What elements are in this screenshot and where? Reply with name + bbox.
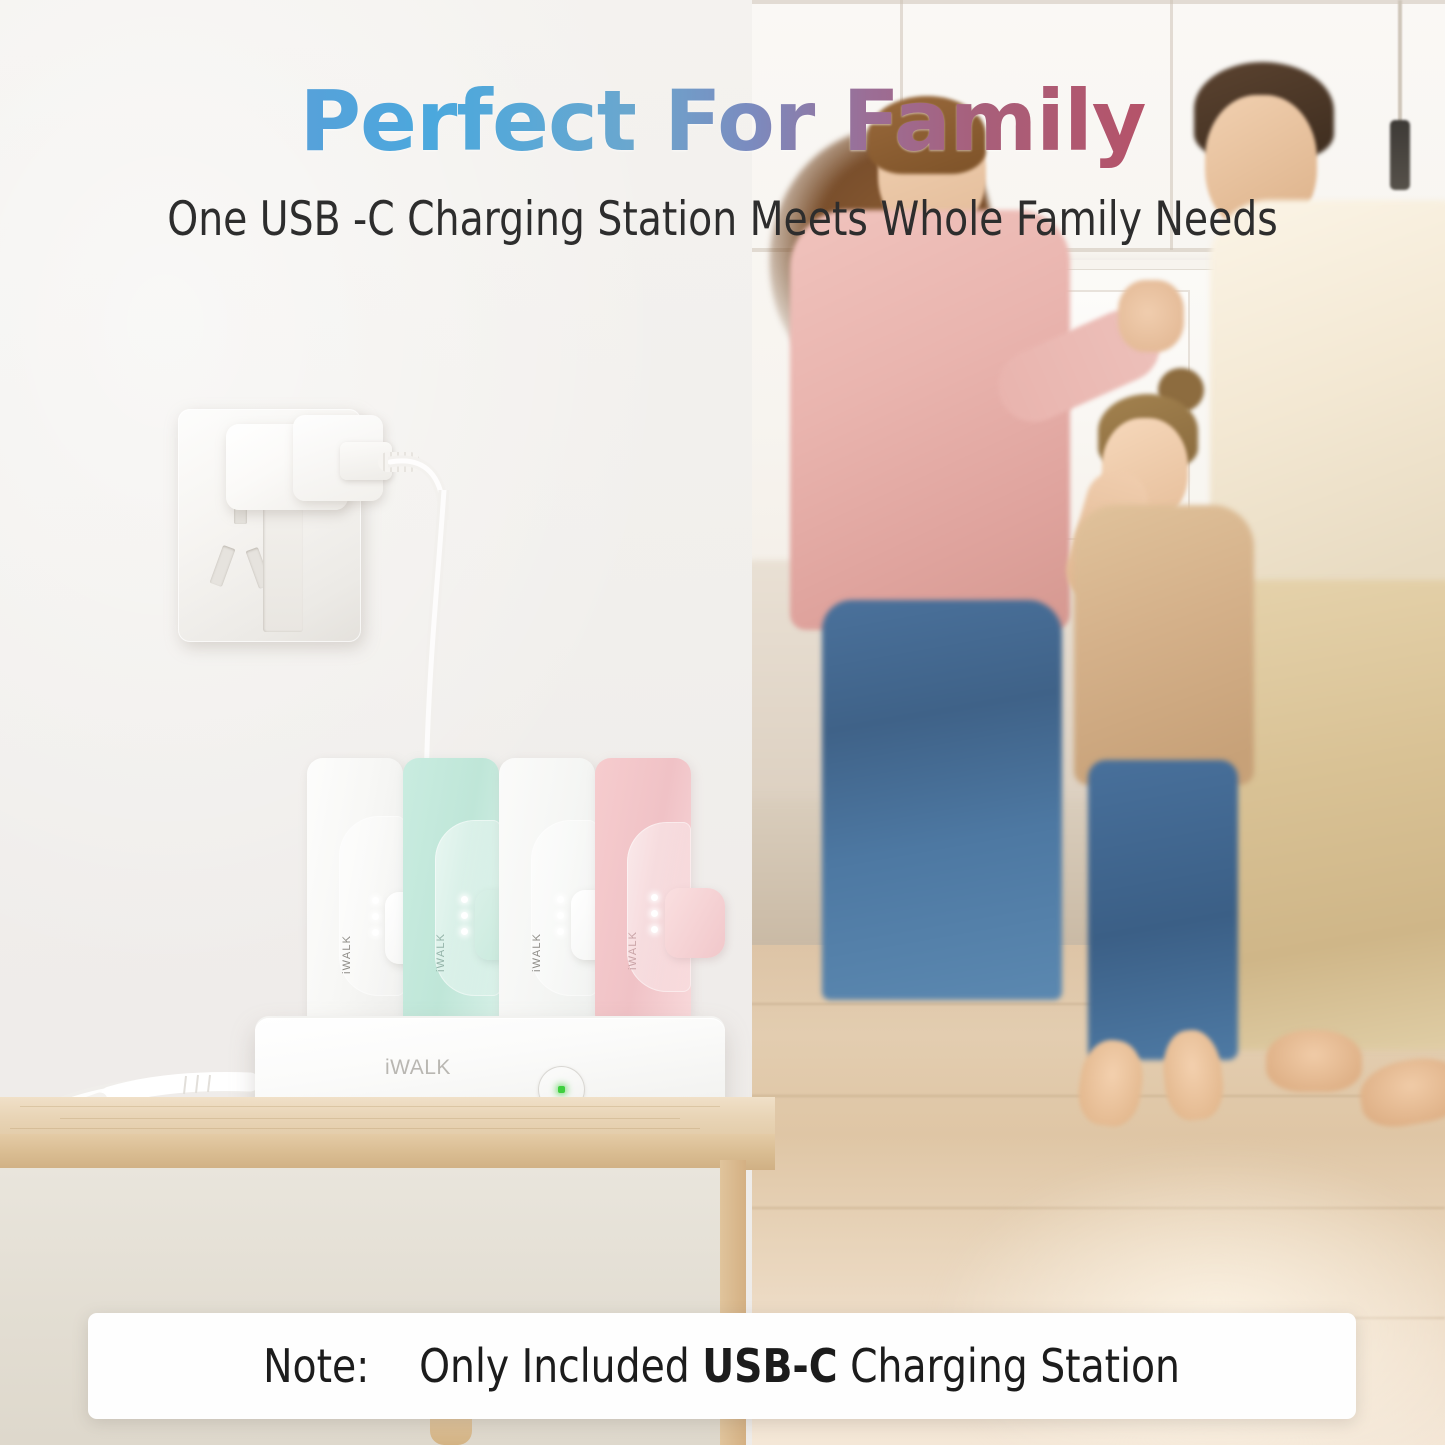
led-indicator bbox=[372, 897, 379, 904]
note-emphasis: USB-C bbox=[703, 1339, 838, 1393]
station-brand-logo: iWALK bbox=[385, 1056, 451, 1080]
note-prefix: Only Included bbox=[420, 1339, 691, 1393]
led-indicator bbox=[461, 896, 468, 903]
led-indicator bbox=[651, 910, 658, 917]
led-indicator bbox=[651, 926, 658, 933]
power-bank-brand-label: iWALK bbox=[341, 935, 353, 974]
power-bank-brand-label: iWALK bbox=[627, 931, 639, 970]
note-banner: Note: Only Included USB-C Charging Stati… bbox=[88, 1313, 1356, 1419]
power-bank-brand-label: iWALK bbox=[435, 933, 447, 972]
table-edge bbox=[0, 1134, 775, 1170]
note-text: Note: Only Included USB-C Charging Stati… bbox=[264, 1339, 1181, 1393]
note-suffix: Charging Station bbox=[851, 1339, 1181, 1393]
led-indicator bbox=[461, 912, 468, 919]
cabinet-line bbox=[750, 0, 1445, 4]
page-title: Perfect For Family bbox=[0, 72, 1445, 170]
led-indicator bbox=[372, 913, 379, 920]
product-banner: iWALK iWALK iWALK iWALK bbox=[0, 0, 1445, 1445]
wood-grain bbox=[60, 1118, 680, 1119]
note-label: Note: bbox=[264, 1339, 370, 1393]
page-subtitle: One USB -C Charging Station Meets Whole … bbox=[51, 192, 1395, 247]
led-indicator bbox=[372, 929, 379, 936]
led-indicator bbox=[557, 896, 564, 903]
wood-grain bbox=[20, 1106, 720, 1107]
power-bank-brand-label: iWALK bbox=[531, 933, 543, 972]
wood-grain bbox=[10, 1128, 700, 1129]
led-indicator bbox=[557, 912, 564, 919]
led-indicator bbox=[461, 928, 468, 935]
charging-cable-lower bbox=[406, 490, 466, 790]
power-status-led bbox=[558, 1086, 565, 1093]
led-indicator bbox=[557, 928, 564, 935]
led-indicator bbox=[651, 894, 658, 901]
usb-c-connector-nub bbox=[665, 888, 725, 958]
usb-c-charging-station: iWALK iWALK iWALK iWALK bbox=[255, 750, 725, 1150]
